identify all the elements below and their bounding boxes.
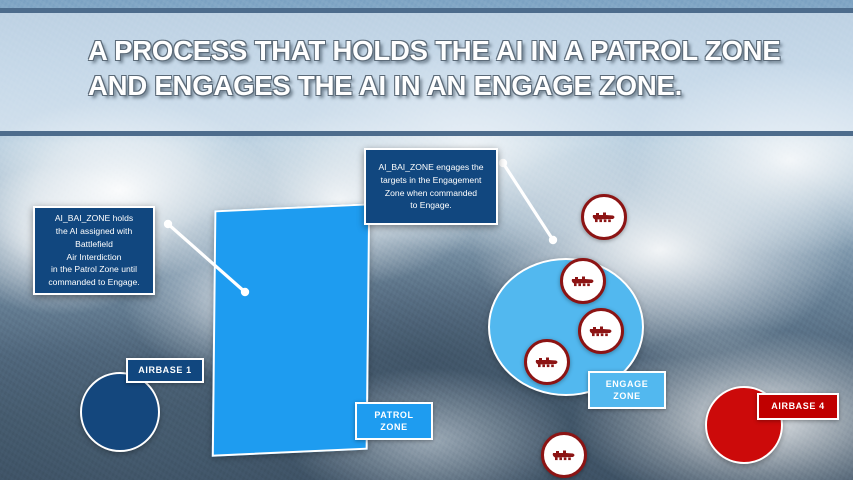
callout-ai-bai-zone-hold[interactable]: AI_BAI_ZONE holds the AI assigned with B…: [33, 206, 155, 295]
airbase-1-marker[interactable]: [80, 372, 160, 452]
label-engage-zone[interactable]: ENGAGE ZONE: [588, 371, 666, 409]
hostile-unit-icon-3[interactable]: [578, 308, 624, 354]
hostile-ground-unit-icon: [570, 274, 596, 289]
label-airbase-4[interactable]: AIRBASE 4: [757, 393, 839, 420]
label-patrol-zone[interactable]: PATROL ZONE: [355, 402, 433, 440]
slide-canvas: A PROCESS THAT HOLDS THE AI IN A PATROL …: [0, 0, 853, 480]
hostile-unit-icon-4[interactable]: [524, 339, 570, 385]
hostile-ground-unit-icon: [588, 324, 614, 339]
hostile-unit-icon-5[interactable]: [541, 432, 587, 478]
hostile-unit-icon-1[interactable]: [581, 194, 627, 240]
label-airbase-1[interactable]: AIRBASE 1: [126, 358, 204, 383]
callout-ai-bai-zone-engage[interactable]: AI_BAI_ZONE engages the targets in the E…: [364, 148, 498, 225]
hostile-unit-icon-2[interactable]: [560, 258, 606, 304]
hostile-ground-unit-icon: [534, 355, 560, 370]
callout-ai-bai-zone-hold-text: AI_BAI_ZONE holds the AI assigned with B…: [41, 208, 146, 293]
callout-ai-bai-zone-engage-text: AI_BAI_ZONE engages the targets in the E…: [371, 157, 490, 217]
title-banner: A PROCESS THAT HOLDS THE AI IN A PATROL …: [0, 8, 853, 136]
patrol-zone-shape[interactable]: [212, 203, 370, 456]
hostile-ground-unit-icon: [551, 448, 577, 463]
page-title: A PROCESS THAT HOLDS THE AI IN A PATROL …: [88, 33, 808, 103]
hostile-ground-unit-icon: [591, 210, 617, 225]
